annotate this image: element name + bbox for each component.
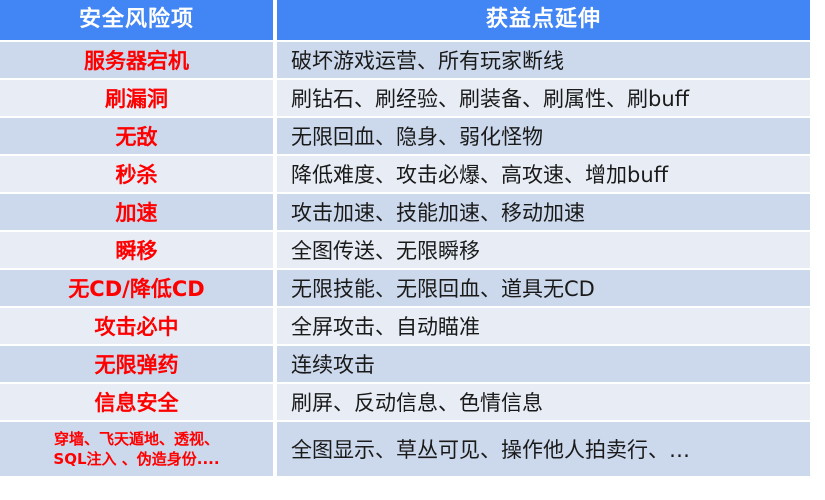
table-body: 服务器宕机 破坏游戏运营、所有玩家断线 刷漏洞 刷钻石、刷经验、刷装备、刷属性、… bbox=[0, 42, 810, 478]
table-row: 瞬移 全图传送、无限瞬移 bbox=[0, 232, 810, 270]
table-row: 无敌 无限回血、隐身、弱化怪物 bbox=[0, 118, 810, 156]
risk-item: 攻击必中 bbox=[0, 308, 277, 346]
risk-item: 服务器宕机 bbox=[0, 42, 277, 80]
benefit-item: 全图传送、无限瞬移 bbox=[277, 232, 810, 270]
table-row: 攻击必中 全屏攻击、自动瞄准 bbox=[0, 308, 810, 346]
risk-item-line-2: SQL注入 、伪造身份.... bbox=[6, 449, 267, 469]
benefit-item: 连续攻击 bbox=[277, 346, 810, 384]
risk-item: 无CD/降低CD bbox=[0, 270, 277, 308]
table-row: 信息安全 刷屏、反动信息、色情信息 bbox=[0, 384, 810, 422]
benefit-item: 降低难度、攻击必爆、高攻速、增加buff bbox=[277, 156, 810, 194]
risk-item-line-1: 穿墙、飞天遁地、透视、 bbox=[6, 429, 267, 449]
benefit-item: 全图显示、草丛可见、操作他人拍卖行、… bbox=[277, 422, 810, 478]
risk-item: 刷漏洞 bbox=[0, 80, 277, 118]
risk-item: 秒杀 bbox=[0, 156, 277, 194]
column-header-risk: 安全风险项 bbox=[0, 0, 277, 42]
table-row: 秒杀 降低难度、攻击必爆、高攻速、增加buff bbox=[0, 156, 810, 194]
table-row: 无CD/降低CD 无限技能、无限回血、道具无CD bbox=[0, 270, 810, 308]
risk-item-multiline: 穿墙、飞天遁地、透视、 SQL注入 、伪造身份.... bbox=[0, 422, 277, 478]
benefit-item: 破坏游戏运营、所有玩家断线 bbox=[277, 42, 810, 80]
risk-item: 无限弹药 bbox=[0, 346, 277, 384]
risk-item: 加速 bbox=[0, 194, 277, 232]
benefit-item: 无限技能、无限回血、道具无CD bbox=[277, 270, 810, 308]
risk-item: 信息安全 bbox=[0, 384, 277, 422]
table-header-row: 安全风险项 获益点延伸 bbox=[0, 0, 810, 42]
risk-item: 瞬移 bbox=[0, 232, 277, 270]
risk-item: 无敌 bbox=[0, 118, 277, 156]
table-row: 服务器宕机 破坏游戏运营、所有玩家断线 bbox=[0, 42, 810, 80]
benefit-item: 无限回血、隐身、弱化怪物 bbox=[277, 118, 810, 156]
security-risk-table: 安全风险项 获益点延伸 服务器宕机 破坏游戏运营、所有玩家断线 刷漏洞 刷钻石、… bbox=[0, 0, 810, 478]
column-header-benefit: 获益点延伸 bbox=[277, 0, 810, 42]
table-row-last: 穿墙、飞天遁地、透视、 SQL注入 、伪造身份.... 全图显示、草丛可见、操作… bbox=[0, 422, 810, 478]
table-header: 安全风险项 获益点延伸 bbox=[0, 0, 810, 42]
benefit-item: 全屏攻击、自动瞄准 bbox=[277, 308, 810, 346]
table-row: 刷漏洞 刷钻石、刷经验、刷装备、刷属性、刷buff bbox=[0, 80, 810, 118]
table-row: 加速 攻击加速、技能加速、移动加速 bbox=[0, 194, 810, 232]
table-row: 无限弹药 连续攻击 bbox=[0, 346, 810, 384]
benefit-item: 刷钻石、刷经验、刷装备、刷属性、刷buff bbox=[277, 80, 810, 118]
benefit-item: 刷屏、反动信息、色情信息 bbox=[277, 384, 810, 422]
benefit-item: 攻击加速、技能加速、移动加速 bbox=[277, 194, 810, 232]
